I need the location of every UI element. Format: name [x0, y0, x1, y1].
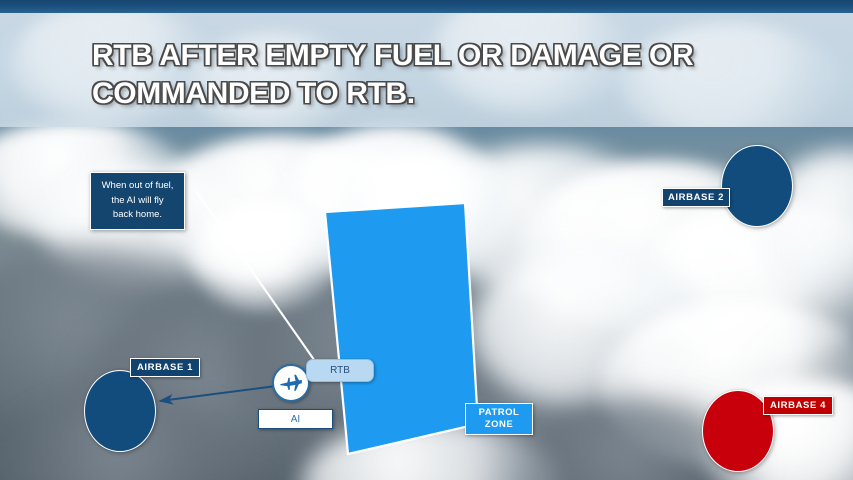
slide-canvas: RTB AFTER EMPTY FUEL OR DAMAGE OR COMMAN…	[0, 0, 853, 480]
patrol-zone-label-line2: ZONE	[485, 419, 513, 431]
airbase-2-marker[interactable]	[721, 145, 793, 227]
callout-leader-line	[196, 191, 317, 364]
patrol-zone-shape[interactable]	[325, 203, 478, 454]
fighter-jet-icon	[278, 370, 304, 396]
fuel-callout-box: When out of fuel, the AI will fly back h…	[90, 172, 185, 230]
rtb-path-arrow	[160, 385, 284, 401]
patrol-zone-label-line1: PATROL	[479, 407, 520, 419]
rtb-marker-label[interactable]: RTB	[306, 359, 374, 382]
rtb-marker-text: RTB	[330, 365, 350, 376]
airbase-1-marker[interactable]	[84, 370, 156, 452]
ai-unit-label[interactable]: AI	[258, 409, 333, 429]
airbase-4-label[interactable]: AIRBASE 4	[763, 396, 833, 415]
fuel-callout-text: When out of fuel, the AI will fly back h…	[102, 179, 174, 223]
ai-unit-label-text: AI	[291, 414, 300, 425]
patrol-zone-label[interactable]: PATROL ZONE	[465, 403, 533, 435]
airbase-2-label[interactable]: AIRBASE 2	[662, 188, 730, 207]
airbase-1-label-text: AIRBASE 1	[137, 362, 193, 373]
airbase-2-label-text: AIRBASE 2	[668, 192, 724, 203]
airbase-1-label[interactable]: AIRBASE 1	[130, 358, 200, 377]
ai-aircraft-marker[interactable]	[272, 364, 310, 402]
airbase-4-label-text: AIRBASE 4	[770, 400, 826, 411]
